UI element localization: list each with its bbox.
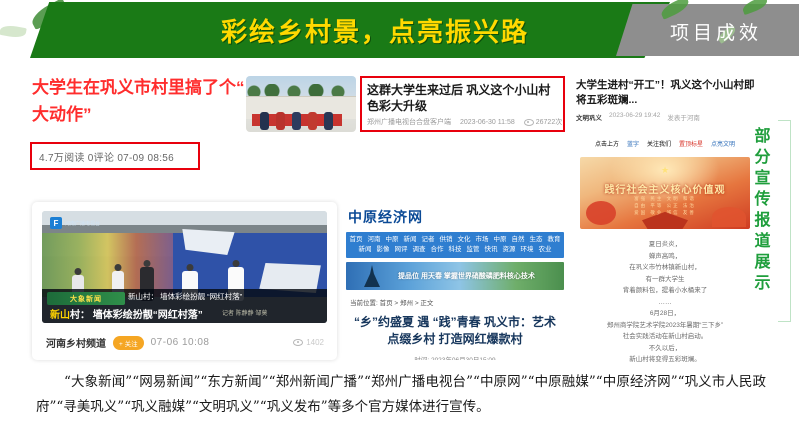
thumbnail-person [276, 112, 285, 130]
article-line: 背着颜料包，提着小水桶来了 [580, 285, 750, 297]
middle-card-headline: 这群大学生来过后 巩义这个小山村色彩大升级 [367, 82, 558, 114]
video-caption-bar: 大象新闻 新山村： 墙体彩绘扮靓 “网红村落” 新山村： 墙体彩绘扮靓“网红村落… [42, 289, 327, 323]
nav-item[interactable]: 中原 [386, 235, 399, 245]
banner-ribbon-left [586, 201, 616, 225]
video-time: 07-06 10:08 [151, 337, 210, 348]
breadcrumb: 当前位置: 首页 > 郑州 > 正文 [350, 297, 568, 307]
channel-tag: 大象新闻 [47, 292, 125, 305]
leaf-decoration-icon [0, 24, 27, 39]
nav-item[interactable]: 新闻 [404, 235, 417, 245]
nav-item[interactable]: 教育 [548, 235, 561, 245]
article-line: 社会实践活动在新山村启动。 [580, 331, 750, 343]
right-card-source: 文明巩义 [576, 112, 602, 122]
nav-item[interactable]: 合作 [431, 245, 444, 255]
article-line: 有一群大学生 [580, 274, 750, 286]
nav-item[interactable]: 资源 [503, 245, 516, 255]
wechat-article-body: 夏日炎炎， 蝉声高鸣， 在巩义市竹林镇新山村， 有一群大学生 背着颜料包，提着小… [572, 239, 758, 364]
nav-item[interactable]: 网评 [395, 245, 408, 255]
article-line: 在巩义市竹林镇新山村， [580, 262, 750, 274]
wechat-top-bar: 点击上方 蓝字 关注我们 置顶标星 点亮文明 [572, 132, 758, 148]
video-news-card[interactable]: F 河南广播电视台 大象新闻 新山村： 墙体彩绘扮靓 “网红村落” 新山村： 墙… [32, 202, 337, 360]
article-line: 6月28日， [580, 308, 750, 320]
article-line: 郑州商学院艺术学院2023年暑期“三下乡” [580, 320, 750, 332]
nav-item[interactable]: 调查 [413, 245, 426, 255]
page-title: 彩绘乡村景，点亮振兴路 [150, 6, 600, 54]
wechat-top-link-blue[interactable]: 蓝字 [627, 139, 639, 148]
broadcaster-logo: F 河南广播电视台 [50, 217, 100, 229]
nav-item[interactable]: 科技 [449, 245, 462, 255]
right-card-headline: 大学生进村“开工”！巩义这个小山村即将五彩斑斓... [576, 78, 756, 108]
ad-tower-icon [364, 265, 380, 287]
site-nav-row-1: 首页 河南 中原 新闻 记者 供销 文化 市场 中原 自然 生态 教育 [350, 235, 560, 245]
site-article-time: 时间: 2023年06月30日15:09 [342, 354, 568, 360]
site-article-headline: “乡”约盛夏 遇 “践”青春 巩义市：艺术点缀乡村 打造网红爆款村 [352, 314, 558, 348]
thumbnail-person [308, 112, 317, 130]
right-card-location: 发表于河南 [667, 112, 700, 122]
article-line: …… [580, 297, 750, 309]
nav-item[interactable]: 监管 [467, 245, 480, 255]
slide-root: 彩绘乡村景，点亮振兴路 项目成效 大学生在巩义市村里搞了个“ 大动作” 4.7万… [0, 0, 799, 448]
header-banner: 彩绘乡村景，点亮振兴路 项目成效 [0, 0, 799, 62]
middle-card-meta: 郑州广播电视台合盘客户端 2023-06-30 11:58 26722次 [367, 117, 558, 127]
lead-stats-box: 4.7万阅读 0评论 07-09 08:56 [30, 142, 200, 170]
nav-item[interactable]: 自然 [512, 235, 525, 245]
video-thumbnail[interactable]: F 河南广播电视台 大象新闻 新山村： 墙体彩绘扮靓 “网红村落” 新山村： 墙… [42, 211, 327, 323]
right-card-meta: 文明巩义 2023-06-29 19:42 发表于河南 [576, 112, 756, 122]
nav-item[interactable]: 新闻 [359, 245, 372, 255]
bottom-caption: “大象新闻”“网易新闻”“东方新闻”“郑州新闻广播”“郑州广播电视台”“中原网”… [36, 370, 766, 420]
article-line: 新山村将变得五彩斑斓。 [580, 354, 750, 364]
views-eye-icon [524, 119, 534, 126]
nav-item[interactable]: 市场 [476, 235, 489, 245]
nav-item[interactable]: 河南 [368, 235, 381, 245]
person-head [115, 264, 122, 271]
middle-card-text-box: 这群大学生来过后 巩义这个小山村色彩大升级 郑州广播电视台合盘客户端 2023-… [360, 76, 565, 132]
middle-card-date: 2023-06-30 11:58 [460, 119, 515, 126]
nav-item[interactable]: 环境 [521, 245, 534, 255]
wechat-top-link-account[interactable]: 点亮文明 [711, 139, 735, 148]
video-views-count: 1402 [306, 338, 324, 347]
nav-item[interactable]: 快讯 [485, 245, 498, 255]
video-views: 1402 [293, 338, 324, 347]
nav-item[interactable]: 记者 [422, 235, 435, 245]
middle-card-thumbnail [246, 76, 356, 132]
banner-ribbon-right [712, 207, 746, 227]
right-card: 大学生进村“开工”！巩义这个小山村即将五彩斑斓... 文明巩义 2023-06-… [576, 78, 756, 122]
logo-text: 河南广播电视台 [65, 220, 100, 227]
person-head [233, 260, 240, 267]
thumbnail-person [260, 112, 269, 130]
follow-button[interactable]: + 关注 [113, 336, 144, 350]
nav-item[interactable]: 生态 [530, 235, 543, 245]
site-nav-bar: 首页 河南 中原 新闻 记者 供销 文化 市场 中原 自然 生态 教育 新闻 影… [346, 232, 564, 258]
nav-item[interactable]: 首页 [350, 235, 363, 245]
caption-rest: 村： 墙体彩绘扮靓“网红村落” [70, 310, 203, 321]
site-advertisement-banner[interactable]: 提品位 用天春 掌握世界硝酸磷肥料核心技术 [346, 262, 564, 290]
person-head [144, 260, 151, 267]
lead-headline-line-2: 大动作” [32, 101, 247, 128]
wechat-banner-image: ★ 践行社会主义核心价值观 富强 民主 文明 和谐 自由 平等 公正 法治 爱国… [580, 157, 750, 229]
ad-text: 提品位 用天春 掌握世界硝酸磷肥料核心技术 [398, 271, 535, 281]
wechat-top-text-1: 点击上方 [595, 139, 619, 148]
nav-item[interactable]: 文化 [458, 235, 471, 245]
site-logo: 中原经济网 [342, 202, 568, 227]
nav-item[interactable]: 中原 [494, 235, 507, 245]
middle-card-views: 26722次 [536, 117, 562, 127]
side-vertical-label: 部分宣传报道展示 [752, 126, 774, 294]
section-label: 项目成效 [646, 8, 786, 54]
thumbnail-person [292, 112, 301, 130]
nav-item[interactable]: 影像 [377, 245, 390, 255]
video-meta-row: 河南乡村频道 + 关注 07-06 10:08 1402 [46, 335, 324, 350]
wechat-top-text-2: 关注我们 [647, 139, 671, 148]
article-line: 蝉声高鸣， [580, 251, 750, 263]
person-head [187, 264, 194, 271]
thumbnail-person [324, 112, 333, 130]
article-line: 夏日炎炎， [580, 239, 750, 251]
caption-top-line: 新山村： 墙体彩绘扮靓 “网红村落” [128, 291, 242, 302]
right-card-date: 2023-06-29 19:42 [609, 112, 660, 122]
article-line: 不久以后， [580, 343, 750, 355]
news-site-panel: 中原经济网 首页 河南 中原 新闻 记者 供销 文化 市场 中原 自然 生态 教… [342, 202, 568, 360]
banner-title: 践行社会主义核心价值观 [580, 181, 750, 196]
site-nav-row-2: 新闻 影像 网评 调查 合作 科技 监管 快讯 资源 环境 农业 [350, 245, 560, 255]
wechat-article-panel: 点击上方 蓝字 关注我们 置顶标星 点亮文明 ★ 践行社会主义核心价值观 富强 … [572, 132, 758, 364]
logo-mark-icon: F [50, 217, 62, 229]
thumbnail-trees [246, 84, 356, 96]
nav-item[interactable]: 供销 [440, 235, 453, 245]
side-label-rule [778, 120, 791, 322]
lead-headline: 大学生在巩义市村里搞了个“ 大动作” [32, 74, 247, 128]
nav-item[interactable]: 农业 [539, 245, 552, 255]
lead-headline-line-1: 大学生在巩义市村里搞了个“ [32, 74, 247, 101]
views-eye-icon [293, 339, 303, 346]
wechat-top-link-red[interactable]: 置顶标星 [679, 139, 703, 148]
caption-highlight: 新山 [50, 310, 70, 321]
person-head [75, 268, 82, 275]
caption-main-line: 新山村： 墙体彩绘扮靓“网红村落” [50, 306, 203, 321]
video-channel-name: 河南乡村频道 [46, 335, 106, 350]
middle-card-source: 郑州广播电视台合盘客户端 [367, 117, 451, 127]
star-icon: ★ [661, 165, 669, 176]
caption-credit: 记者 陈静静 邹莫 [222, 308, 267, 317]
